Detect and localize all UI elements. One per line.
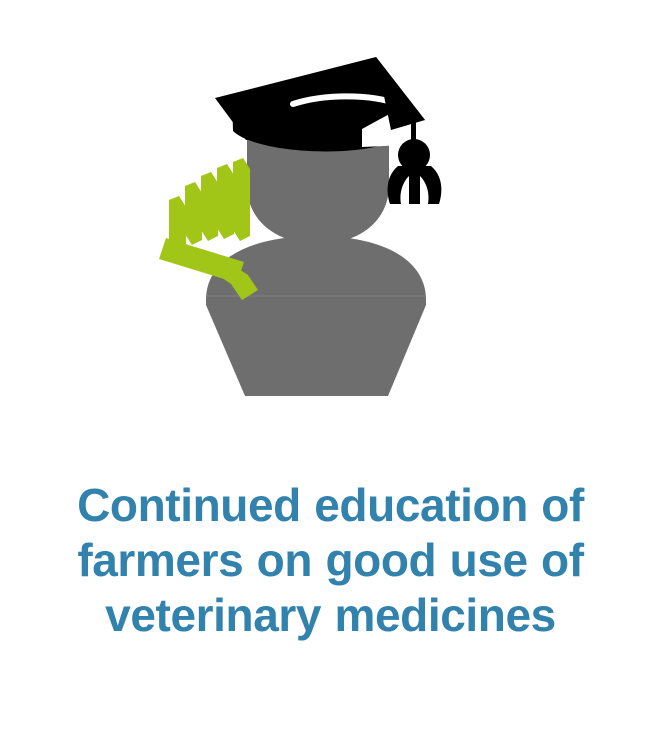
pitchfork-tine-4 [217, 164, 234, 239]
pitchfork-tine-2 [185, 182, 202, 245]
caption-line-1: Continued education of [40, 478, 621, 533]
illustration-area [0, 0, 661, 470]
body-shape [206, 236, 426, 396]
pitchfork-tine-3 [201, 172, 218, 241]
pitchfork-tine-5 [233, 158, 250, 241]
pitchfork-icon [159, 158, 258, 300]
infographic-card: Continued education of farmers on good u… [0, 0, 661, 744]
farmer-body-group [206, 236, 426, 396]
caption-area: Continued education of farmers on good u… [0, 470, 661, 643]
caption-line-2: farmers on good use of [40, 533, 621, 588]
farmer-graduate-icon [0, 0, 661, 470]
caption-text: Continued education of farmers on good u… [0, 478, 661, 643]
tassel-fringe [388, 166, 442, 204]
graduation-cap-icon [215, 57, 425, 151]
caption-line-3: veterinary medicines [40, 588, 621, 643]
